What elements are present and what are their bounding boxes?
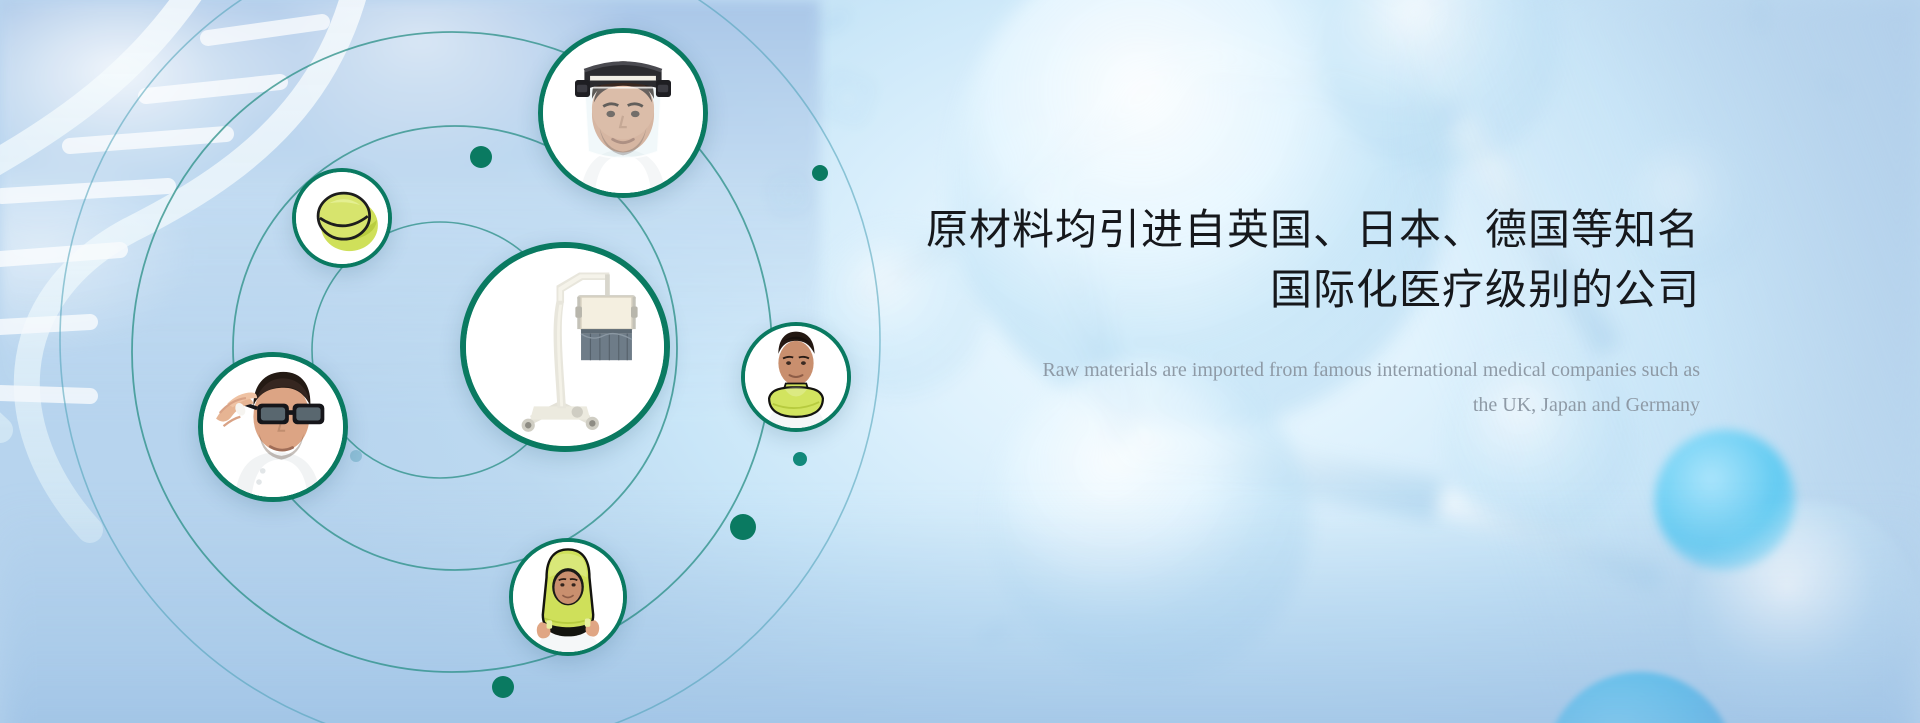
- headline: 原材料均引进自英国、日本、德国等知名 国际化医疗级别的公司: [860, 200, 1700, 319]
- node-lead-cap[interactable]: [292, 168, 392, 268]
- thyroid-collar-icon: [745, 326, 847, 428]
- headline-line-1: 原材料均引进自英国、日本、德国等知名: [926, 206, 1700, 253]
- copy-block: 原材料均引进自英国、日本、德国等知名 国际化医疗级别的公司 Raw materi…: [860, 200, 1700, 423]
- headline-line-2: 国际化医疗级别的公司: [860, 260, 1700, 320]
- orbit-dot-2: [812, 165, 828, 181]
- orbit-dot-6: [492, 676, 514, 698]
- node-face-shield[interactable]: [538, 28, 708, 198]
- orbit-dot-4: [793, 452, 807, 466]
- lead-glasses-icon: [203, 357, 343, 497]
- mobile-shield-icon: [466, 248, 664, 446]
- hero-banner: 原材料均引进自英国、日本、德国等知名 国际化医疗级别的公司 Raw materi…: [0, 0, 1920, 723]
- subcopy-line-1: Raw materials are imported from famous i…: [860, 353, 1700, 388]
- node-thyroid-collar[interactable]: [741, 322, 851, 432]
- node-lead-hood[interactable]: [509, 538, 627, 656]
- orbit-dot-3: [350, 450, 362, 462]
- orbit-dot-1: [470, 146, 492, 168]
- node-mobile-shield[interactable]: [460, 242, 670, 452]
- orbit-dot-5: [730, 514, 756, 540]
- lead-cap-icon: [296, 172, 388, 264]
- lead-hood-icon: [513, 542, 623, 652]
- node-lead-glasses[interactable]: [198, 352, 348, 502]
- subcopy: Raw materials are imported from famous i…: [860, 353, 1700, 423]
- subcopy-line-2: the UK, Japan and Germany: [860, 388, 1700, 423]
- face-shield-icon: [543, 33, 703, 193]
